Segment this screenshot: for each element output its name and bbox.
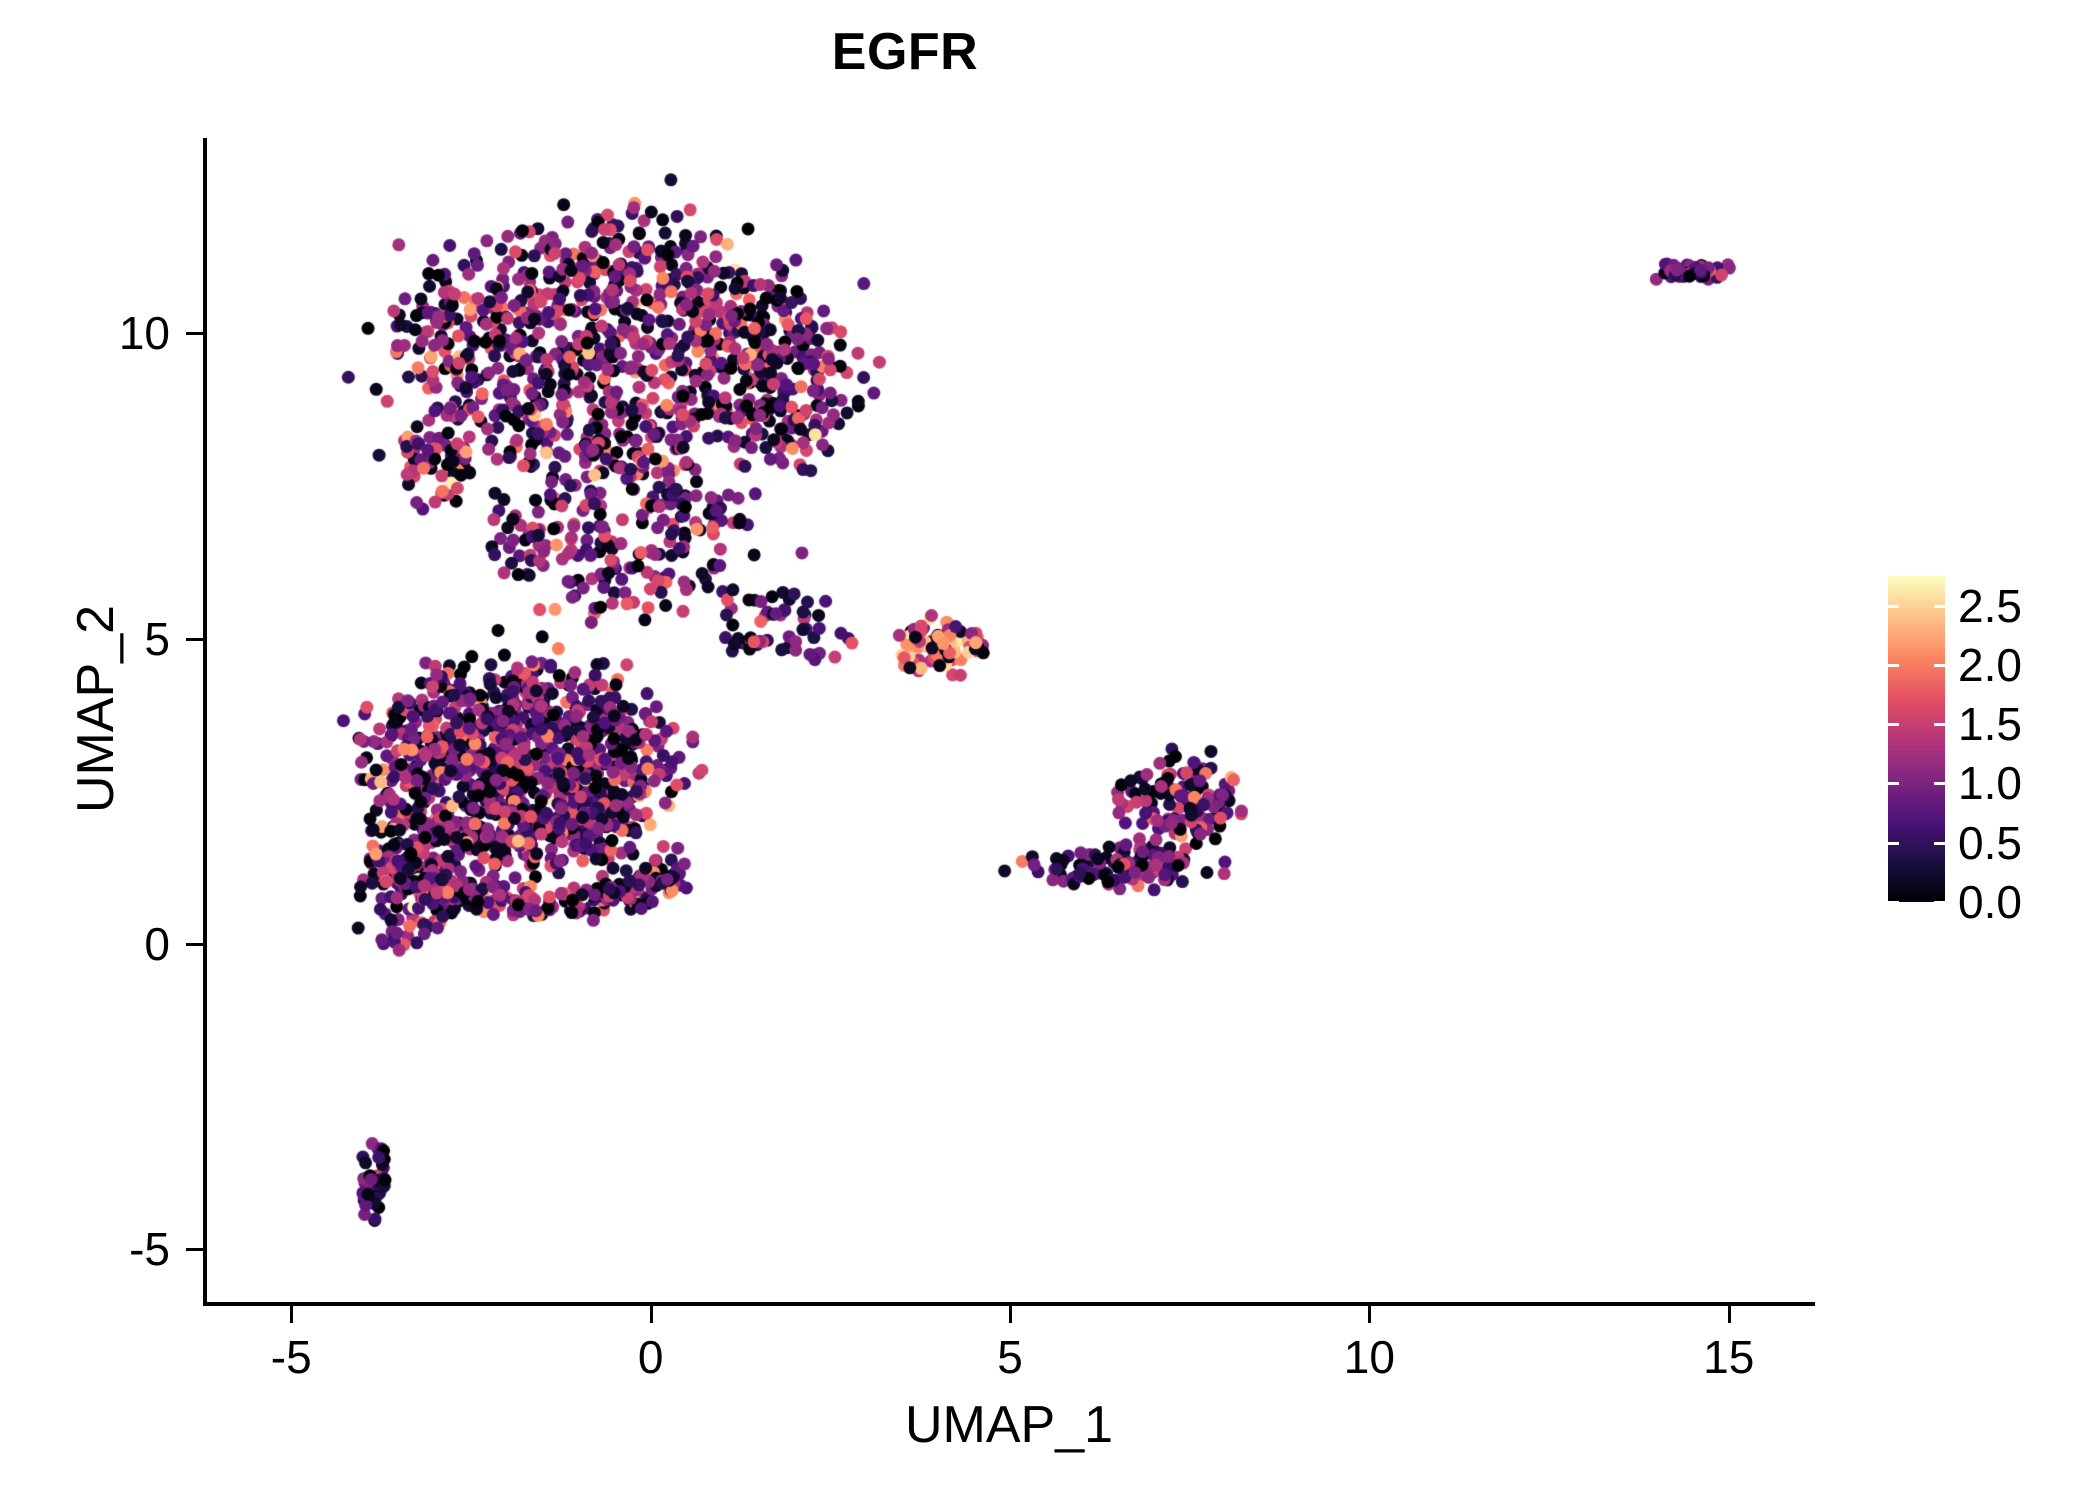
y-tick-label: -5 [0,1226,170,1272]
x-tick-mark [1009,1306,1012,1323]
color-legend: 0.00.51.01.52.02.5 [1888,576,2088,906]
page-title: EGFR [0,22,1810,82]
legend-colorbar [1888,576,1945,902]
legend-tick-mark [1934,664,1945,667]
legend-tick-label: 2.0 [1958,642,2022,688]
legend-tick-mark [1888,782,1899,785]
y-tick-mark [186,1248,203,1251]
legend-tick-mark [1888,901,1899,904]
legend-tick-mark [1888,723,1899,726]
x-tick-mark [1368,1306,1371,1323]
x-tick-label: -5 [191,1334,391,1380]
y-axis-title: UMAP_2 [67,359,125,1059]
legend-tick-mark [1888,842,1899,845]
y-tick-mark [186,638,203,641]
x-tick-label: 0 [551,1334,751,1380]
legend-tick-mark [1888,664,1899,667]
legend-tick-label: 0.5 [1958,820,2022,866]
x-tick-mark [290,1306,293,1323]
x-tick-label: 5 [910,1334,1110,1380]
scatter-plot-panel [205,138,1815,1304]
legend-tick-label: 1.5 [1958,701,2022,747]
legend-tick-mark [1888,605,1899,608]
legend-tick-mark [1934,782,1945,785]
x-axis-title: UMAP_1 [203,1396,1815,1454]
x-tick-label: 10 [1269,1334,1469,1380]
legend-tick-mark [1934,842,1945,845]
feature-plot-figure: EGFR -50510 -5051015 UMAP_1 UMAP_2 0.00.… [0,0,2100,1500]
y-tick-mark [186,332,203,335]
legend-tick-mark [1934,605,1945,608]
legend-tick-label: 2.5 [1958,583,2022,629]
legend-tick-label: 1.0 [1958,760,2022,806]
x-tick-label: 15 [1629,1334,1829,1380]
x-tick-mark [650,1306,653,1323]
legend-tick-mark [1934,723,1945,726]
y-tick-mark [186,943,203,946]
y-axis-line [203,138,207,1304]
legend-tick-mark [1934,901,1945,904]
x-tick-mark [1728,1306,1731,1323]
legend-tick-label: 0.0 [1958,879,2022,925]
y-tick-label: 10 [0,310,170,356]
scatter-points-canvas [205,138,1815,1304]
